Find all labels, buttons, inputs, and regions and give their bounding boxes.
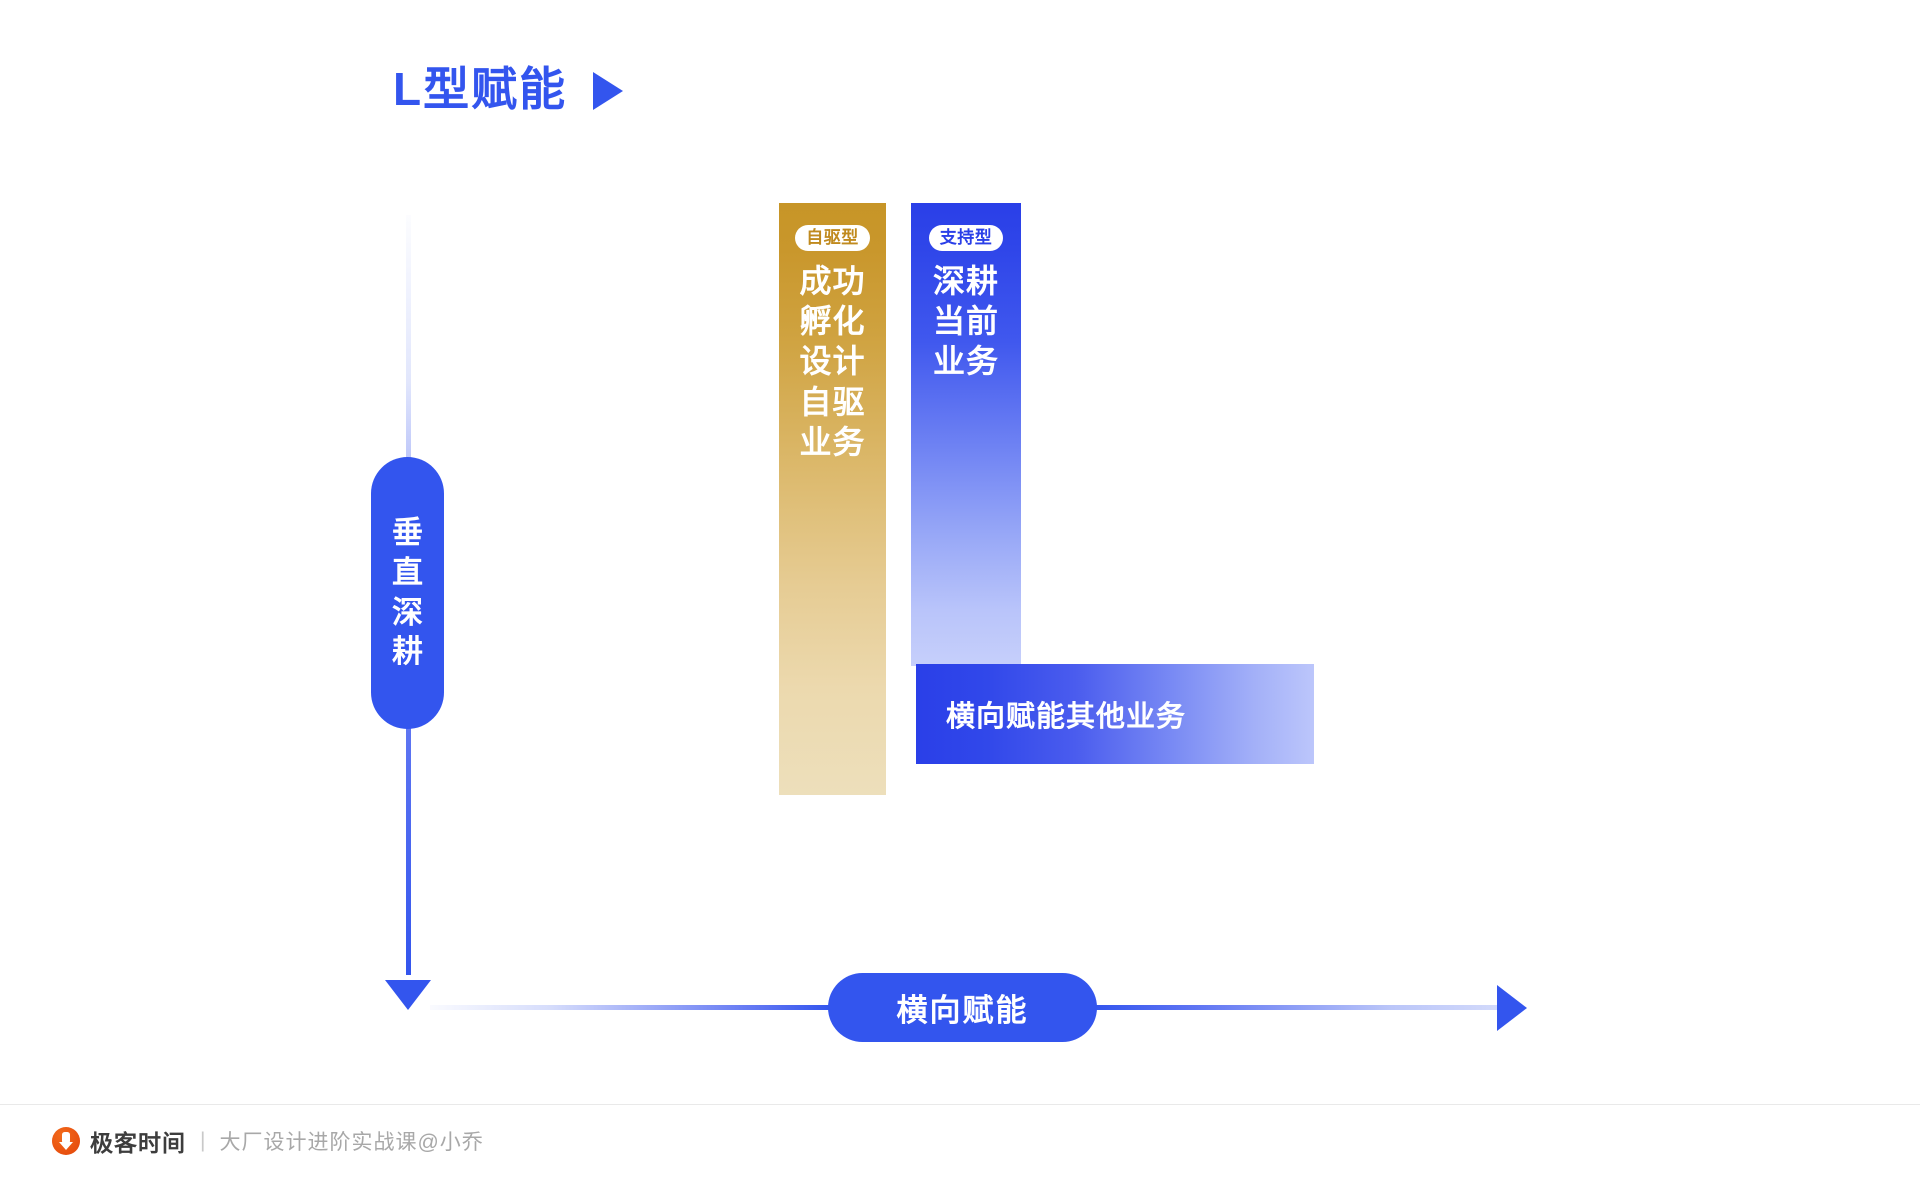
gold-column-line: 孵化 <box>799 304 865 339</box>
vertical-axis-char: 直 <box>392 557 423 590</box>
page-title-text: L型赋能 <box>393 66 567 112</box>
footer-separator: | <box>200 1129 205 1153</box>
gold-column-badge: 自驱型 <box>795 225 870 251</box>
gold-horizontal-bar: 公司/组织内形成中台能力 <box>779 798 1314 905</box>
course-name: 大厂设计进阶实战课@小乔 <box>219 1126 483 1156</box>
gold-bar-label: 公司/组织内形成中台能力 <box>809 831 1148 873</box>
gold-column-line: 自驱 <box>799 385 865 420</box>
gold-column: 自驱型 成功 孵化 设计 自驱 业务 <box>779 203 886 795</box>
blue-column-line: 业务 <box>933 344 999 379</box>
horizontal-axis-line-left <box>430 1005 830 1010</box>
blue-column-text: 深耕 当前 业务 <box>933 264 999 380</box>
gold-column-line: 成功 <box>799 264 865 299</box>
brand-name: 极客时间 <box>90 1124 186 1158</box>
blue-column: 支持型 深耕 当前 业务 <box>911 203 1021 666</box>
blue-column-line: 当前 <box>933 304 999 339</box>
blue-column-badge: 支持型 <box>929 225 1004 251</box>
geekbang-logo-icon <box>52 1127 80 1155</box>
vertical-axis-char: 垂 <box>392 517 423 550</box>
blue-column-line: 深耕 <box>933 264 999 299</box>
vertical-axis-label: 垂 直 深 耕 <box>371 457 444 729</box>
blue-horizontal-bar: 横向赋能其他业务 <box>916 664 1314 764</box>
gold-column-text: 成功 孵化 设计 自驱 业务 <box>799 264 865 460</box>
horizontal-axis-label: 横向赋能 <box>828 973 1097 1042</box>
horizontal-axis-line-right <box>1095 1005 1515 1010</box>
vertical-axis-char: 耕 <box>392 636 423 669</box>
slide-canvas: L型赋能 垂 直 深 耕 横向赋能 自驱型 成功 孵化 设计 自驱 业务 支持型… <box>0 0 1920 1181</box>
triangle-right-icon <box>593 72 623 110</box>
blue-bar-label: 横向赋能其他业务 <box>946 693 1186 735</box>
footer: 极客时间 | 大厂设计进阶实战课@小乔 <box>52 1124 484 1158</box>
page-title: L型赋能 <box>393 66 623 112</box>
footer-divider <box>0 1104 1920 1105</box>
triangle-down-icon <box>385 980 431 1010</box>
horizontal-axis-label-text: 横向赋能 <box>897 985 1029 1030</box>
vertical-axis-char: 深 <box>392 597 423 630</box>
gold-column-line: 业务 <box>799 425 865 460</box>
gold-column-line: 设计 <box>799 344 865 379</box>
triangle-right-icon <box>1497 985 1527 1031</box>
